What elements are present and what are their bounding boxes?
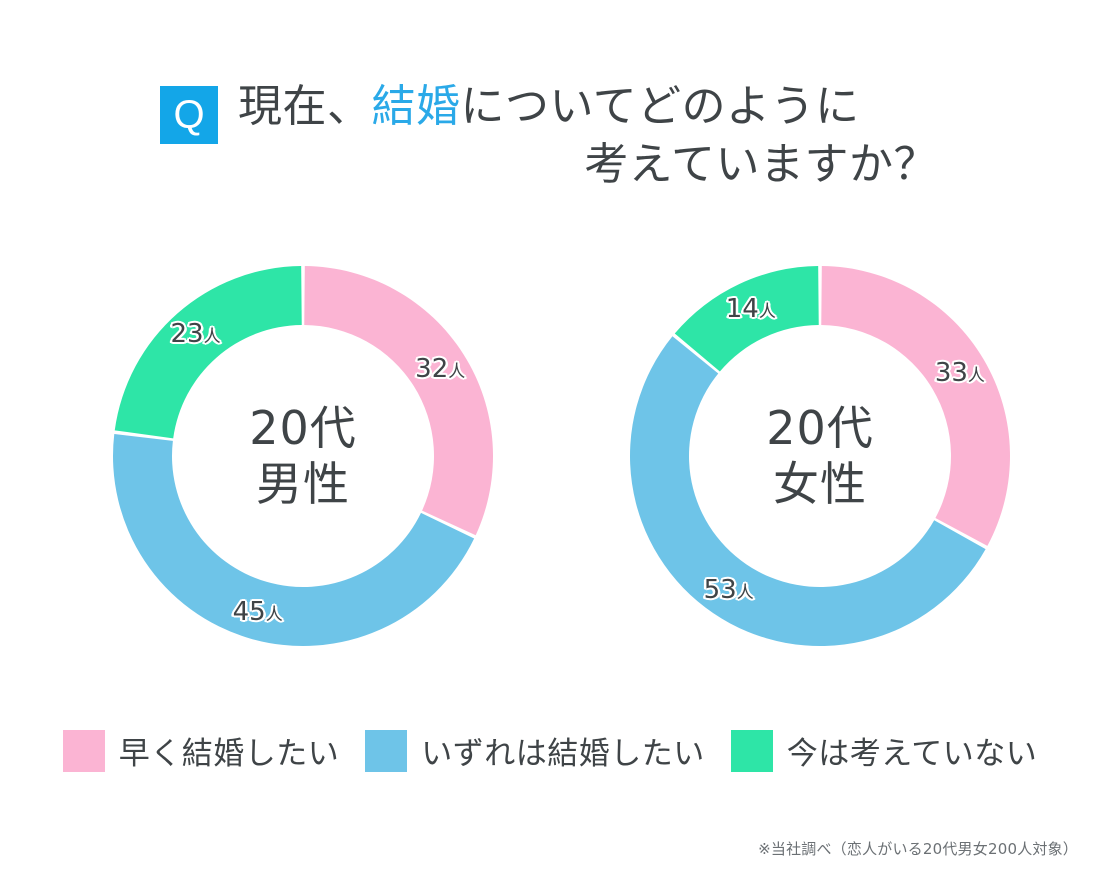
page-title: 現在、結婚についてどのように 考えていますか？ [238, 78, 938, 194]
legend-swatch-pink [63, 730, 105, 772]
donut-female-segments [630, 266, 1010, 646]
donut-female-segment-1 [821, 266, 1010, 546]
source-footnote: ※当社調べ（恋人がいる20代男女200人対象） [758, 838, 1078, 859]
donut-chart-female: 20代 女性 33人53人14人 [605, 241, 1035, 671]
legend-label-2: いずれは結婚したい [421, 728, 705, 773]
legend-swatch-green [731, 730, 773, 772]
donut-male-segments [113, 266, 493, 646]
title-text-pre: 現在、 [238, 81, 372, 132]
title-line-2: 考えていますか？ [238, 136, 938, 194]
donut-chart-male: 20代 男性 32人45人23人 [88, 241, 518, 671]
title-block: Q 現在、結婚についてどのように 考えていますか？ [0, 78, 1100, 213]
donut-male-segment-2 [113, 434, 474, 646]
question-badge: Q [160, 86, 218, 144]
title-row: Q 現在、結婚についてどのように 考えていますか？ [160, 78, 950, 194]
title-line-1: 現在、結婚についてどのように [238, 78, 938, 136]
legend-label-3: 今は考えていない [787, 728, 1037, 773]
legend-label-1: 早く結婚したい [119, 728, 340, 773]
donut-male-segment-3 [115, 266, 302, 438]
donut-female-svg [605, 241, 1035, 671]
donut-female-segment-3 [675, 266, 819, 372]
title-text-post: についてどのように [461, 81, 860, 132]
question-badge-letter: Q [173, 95, 204, 135]
donut-male-segment-1 [304, 266, 493, 535]
legend-item-1: 早く結婚したい [63, 728, 340, 773]
title-keyword: 結婚 [372, 81, 461, 132]
chart-legend: 早く結婚したいいずれは結婚したい今は考えていない [0, 728, 1100, 773]
legend-item-2: いずれは結婚したい [365, 728, 705, 773]
legend-swatch-blue [365, 730, 407, 772]
legend-item-3: 今は考えていない [731, 728, 1037, 773]
donut-male-svg [88, 241, 518, 671]
